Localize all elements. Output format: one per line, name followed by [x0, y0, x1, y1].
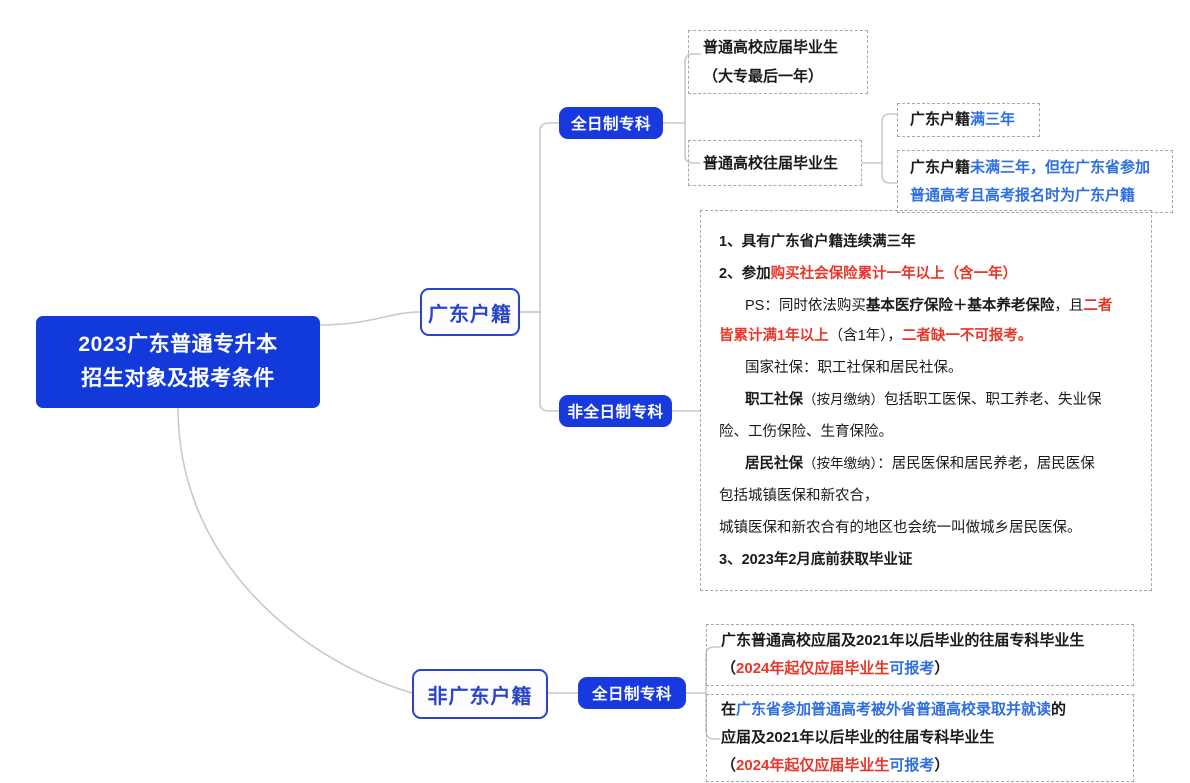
branch-guangdong-hukou-label: 广东户籍 — [422, 298, 518, 327]
panel-item-2-lead-red: 购买社会保险累计一年以上（含一年） — [771, 266, 1018, 282]
panel-note-2-bold: 职工社保 — [745, 392, 803, 408]
panel-note-4: 城镇医保和新农合有的地区也会统一叫做城乡居民医保。 — [719, 513, 1133, 543]
leaf-nongd-option-a[interactable]: 广东普通高校应届及2021年以后毕业的往届专科毕业生 （2024年起仅应届毕业生… — [706, 624, 1134, 686]
nongd-b-l1-black-b: 的 — [1051, 701, 1066, 718]
leaf-fresh-graduate-line1: 普通高校应届毕业生 — [703, 33, 853, 62]
panel-item-1-text: 具有广东省户籍连续满三年 — [742, 234, 916, 250]
leaf-fresh-graduate-line2: （大专最后一年） — [703, 62, 853, 91]
panel-item-1: 1、具有广东省户籍连续满三年 — [719, 227, 1133, 257]
panel-note-3: 居民社保（按年缴纳）：居民医保和居民养老，居民医保 — [719, 449, 1133, 479]
node-nongd-fulltime-label: 全日制专科 — [578, 682, 686, 704]
panel-ps-g: 二者缺一不可报考。 — [902, 328, 1033, 344]
panel-ps-label: PS： — [745, 298, 779, 314]
leaf-nongd-a-line2: （2024年起仅应届毕业生可报考） — [721, 655, 1119, 683]
leaf-hukou-under3-line1: 广东户籍未满三年，但在广东省参加 — [910, 154, 1160, 182]
hukou-3yr-part1: 广东户籍 — [910, 111, 970, 128]
nongd-b-l1-blue: 广东省参加普通高考被外省普通高校录取并就读 — [736, 701, 1051, 718]
nongd-a-red: 2024年起仅应届毕业生 — [736, 660, 889, 677]
root-title-line2: 招生对象及报考条件 — [46, 362, 310, 396]
hukou-under3-l1-black: 广东户籍 — [910, 159, 970, 176]
hukou-3yr-part2: 满三年 — [970, 111, 1015, 128]
mindmap-canvas: 2023广东普通专升本 招生对象及报考条件 广东户籍 非广东户籍 全日制专科 非… — [0, 0, 1190, 783]
branch-non-guangdong-hukou[interactable]: 非广东户籍 — [412, 669, 548, 719]
panel-note-3-bold: 居民社保 — [745, 456, 803, 472]
panel-note-1: 国家社保：职工社保和居民社保。 — [719, 353, 1133, 383]
nongd-b-paren-open: （ — [721, 757, 736, 774]
panel-item-2-num: 2、 — [719, 266, 742, 282]
nongd-a-paren-close: ） — [934, 660, 949, 677]
panel-note-2-cont: 险、工伤保险、生育保险。 — [719, 417, 1133, 447]
panel-ps-d: 二者 — [1083, 298, 1112, 314]
branch-guangdong-hukou[interactable]: 广东户籍 — [420, 288, 520, 336]
leaf-nongd-option-b[interactable]: 在广东省参加普通高考被外省普通高校录取并就读的 应届及2021年以后毕业的往届专… — [706, 694, 1134, 782]
panel-item-2-ps-cont: 皆累计满1年以上（含1年），二者缺一不可报考。 — [719, 321, 1133, 351]
leaf-nongd-a-line1: 广东普通高校应届及2021年以后毕业的往届专科毕业生 — [721, 627, 1119, 655]
panel-item-1-num: 1、 — [719, 234, 742, 250]
leaf-hukou-three-years[interactable]: 广东户籍满三年 — [897, 103, 1040, 137]
panel-ps-b: 基本医疗保险＋基本养老保险 — [866, 298, 1055, 314]
leaf-hukou-under-three-years[interactable]: 广东户籍未满三年，但在广东省参加 普通高考且高考报名时为广东户籍 — [897, 150, 1173, 213]
node-nongd-fulltime[interactable]: 全日制专科 — [578, 677, 686, 709]
panel-item-3-num: 3、 — [719, 552, 742, 568]
panel-note-3-rest: ：居民医保和居民养老，居民医保 — [877, 456, 1095, 472]
branch-non-guangdong-hukou-label: 非广东户籍 — [414, 680, 546, 709]
nongd-b-blue: 可报考 — [889, 757, 934, 774]
panel-note-2-rest: 包括职工医保、职工养老、失业保 — [884, 392, 1102, 408]
leaf-fresh-graduate[interactable]: 普通高校应届毕业生 （大专最后一年） — [688, 30, 868, 94]
node-gd-fulltime-label: 全日制专科 — [559, 112, 663, 134]
panel-item-3-text: 2023年2月底前获取毕业证 — [742, 552, 913, 568]
node-gd-parttime-label: 非全日制专科 — [559, 400, 672, 422]
panel-note-2-paren: （按月缴纳） — [803, 392, 884, 407]
panel-item-2-lead-black: 参加 — [742, 266, 771, 282]
leaf-nongd-b-line3: （2024年起仅应届毕业生可报考） — [721, 752, 1119, 780]
hukou-under3-l1-blue: 未满三年，但在广东省参加 — [970, 159, 1150, 176]
nongd-b-l1-black-a: 在 — [721, 701, 736, 718]
panel-note-2: 职工社保（按月缴纳）包括职工医保、职工养老、失业保 — [719, 385, 1133, 415]
root-node[interactable]: 2023广东普通专升本 招生对象及报考条件 — [36, 316, 320, 408]
leaf-past-graduate[interactable]: 普通高校往届毕业生 — [688, 140, 862, 186]
panel-note-3-cont: 包括城镇医保和新农合， — [719, 481, 1133, 511]
panel-ps-a: 同时依法购买 — [779, 298, 866, 314]
node-gd-parttime[interactable]: 非全日制专科 — [559, 395, 672, 427]
root-title-line1: 2023广东普通专升本 — [46, 328, 310, 362]
nongd-b-red: 2024年起仅应届毕业生 — [736, 757, 889, 774]
leaf-hukou-under3-line2: 普通高考且高考报名时为广东户籍 — [910, 182, 1160, 210]
leaf-hukou-three-years-text: 广东户籍满三年 — [910, 109, 1027, 131]
leaf-nongd-b-line1: 在广东省参加普通高考被外省普通高校录取并就读的 — [721, 696, 1119, 724]
nongd-b-paren-close: ） — [934, 757, 949, 774]
node-gd-fulltime[interactable]: 全日制专科 — [559, 107, 663, 139]
panel-ps-f: （含1年）， — [829, 328, 902, 344]
leaf-past-graduate-line1: 普通高校往届毕业生 — [703, 149, 847, 178]
nongd-a-paren-open: （ — [721, 660, 736, 677]
panel-note-3-paren: （按年缴纳） — [803, 456, 877, 471]
panel-ps-c: ，且 — [1054, 298, 1083, 314]
panel-ps-e: 皆累计满1年以上 — [719, 328, 829, 344]
panel-item-3: 3、2023年2月底前获取毕业证 — [719, 545, 1133, 575]
nongd-a-blue: 可报考 — [889, 660, 934, 677]
leaf-nongd-b-line2: 应届及2021年以后毕业的往届专科毕业生 — [721, 724, 1119, 752]
panel-parttime-requirements[interactable]: 1、具有广东省户籍连续满三年 2、参加购买社会保险累计一年以上（含一年） PS：… — [700, 210, 1152, 591]
panel-item-2-heading: 2、参加购买社会保险累计一年以上（含一年） — [719, 259, 1133, 289]
panel-item-2-ps: PS：同时依法购买基本医疗保险＋基本养老保险，且二者 — [719, 291, 1133, 321]
